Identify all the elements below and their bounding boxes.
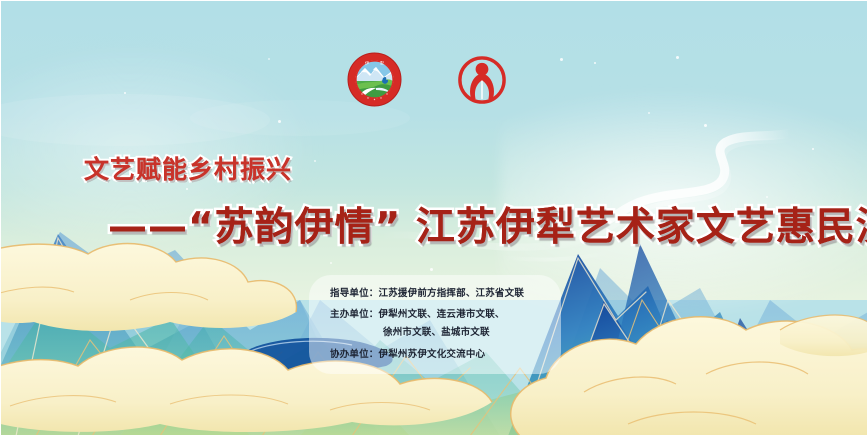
credit-value: 徐州市文联、盐城市文联 [383,324,490,338]
credit-row-host-cont: 徐州市文联、盐城市文联 [383,324,490,338]
credits-block: 指导单位： 江苏援伊前方指挥部、江苏省文联 主办单位： 伊犁州文联、连云港市文联… [309,275,561,374]
wenlian-logo [455,53,509,107]
poster-subtitle-fill: 文艺赋能乡村振兴 [84,150,292,186]
svg-text:犁: 犁 [380,60,384,66]
credit-row-cohost: 协办单位： 伊犁州苏伊文化交流中心 [330,346,485,360]
credit-value: 伊犁州文联、连云港市文联、 [379,306,505,320]
logo-row: 伊 犁 [0,52,868,116]
credit-value: 伊犁州苏伊文化交流中心 [379,346,486,360]
credit-label: 主办单位： [330,306,379,320]
credit-value: 江苏援伊前方指挥部、江苏省文联 [379,285,525,299]
poster-main-title-fill: ——“苏韵伊情” 江苏伊犁艺术家文艺惠民演出 [108,196,868,252]
poster-banner: 伊 犁 文艺赋能乡村振兴 文艺赋能乡村振兴 ——“苏韵伊情” 江苏伊犁艺术家文艺… [0,0,868,436]
credit-row-guidance: 指导单位： 江苏援伊前方指挥部、江苏省文联 [330,285,524,299]
credit-row-host: 主办单位： 伊犁州文联、连云港市文联、 [330,306,505,320]
credit-label: 指导单位： [330,285,379,299]
svg-text:伊: 伊 [365,60,369,66]
yili-emblem-logo: 伊 犁 [347,52,402,107]
credit-label: 协办单位： [330,346,379,360]
